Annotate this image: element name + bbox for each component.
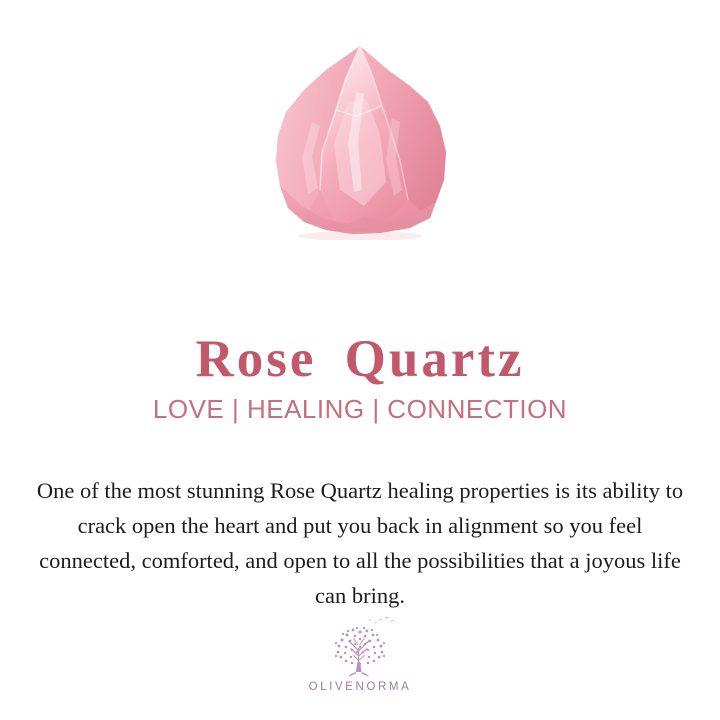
- crystal-contact-shadow: [298, 231, 422, 240]
- description-text: One of the most stunning Rose Quartz hea…: [28, 473, 692, 613]
- rose-quartz-image: [0, 40, 720, 255]
- rose-quartz-crystal-illustration: [260, 40, 460, 240]
- product-info-card: Rose Quartz LOVE | HEALING | CONNECTION …: [0, 0, 720, 720]
- brand-name: OLIVENORMA: [309, 681, 412, 693]
- tree-of-life-icon: [317, 614, 403, 678]
- page-title: Rose Quartz: [0, 333, 720, 386]
- keyword-tagline: LOVE | HEALING | CONNECTION: [0, 396, 720, 422]
- brand-logo: OLIVENORMA: [0, 614, 720, 693]
